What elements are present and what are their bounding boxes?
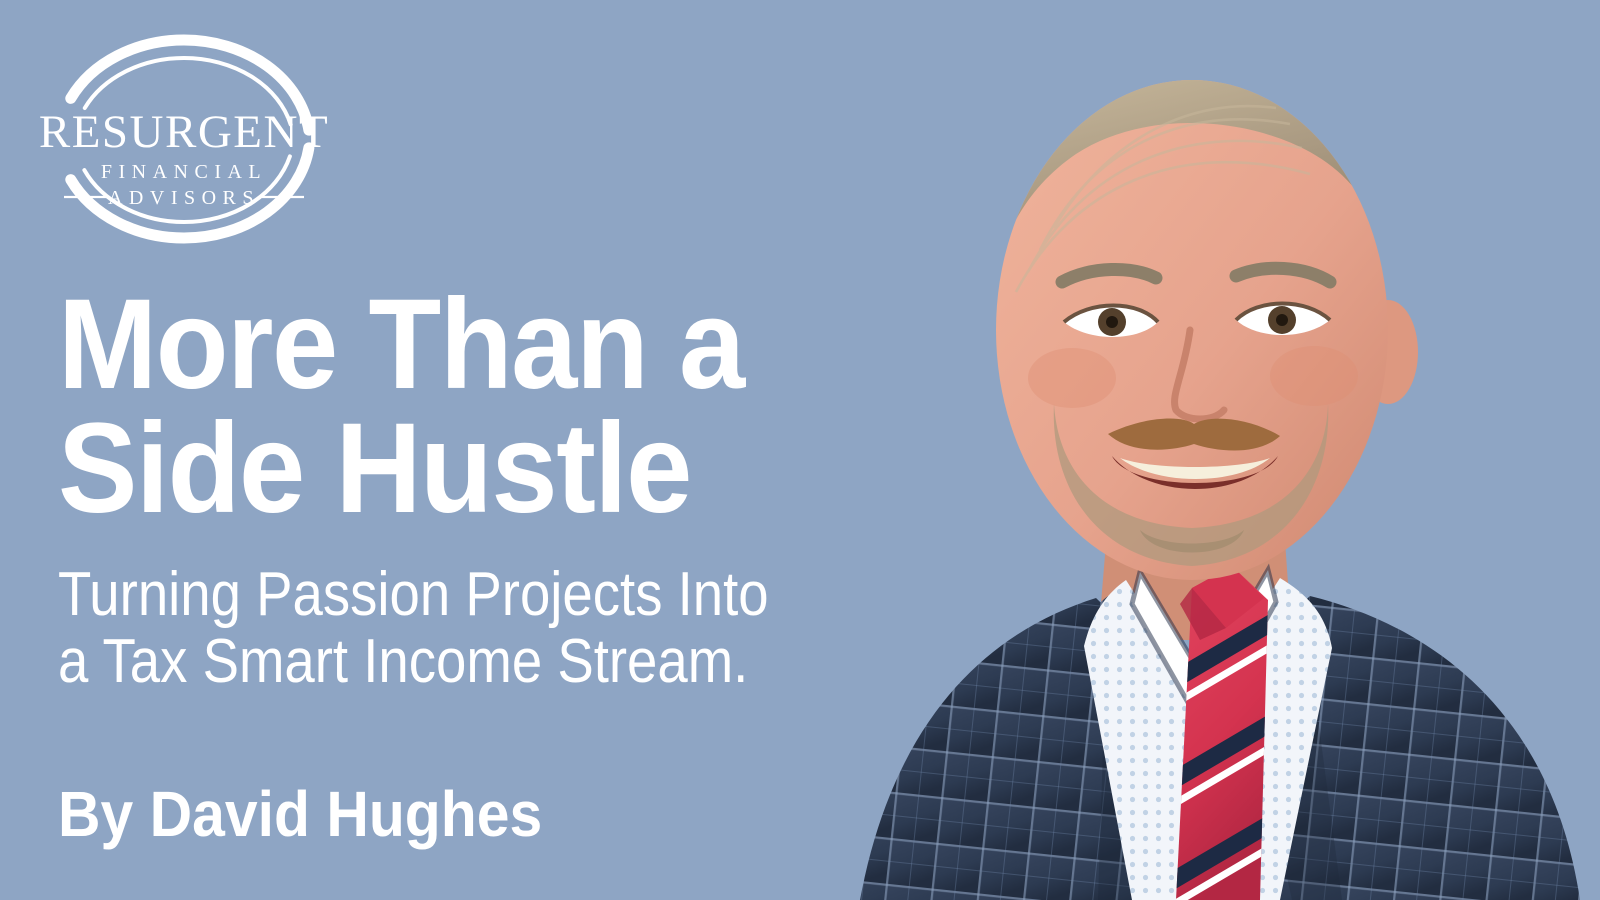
head <box>988 62 1400 580</box>
logo-line3-text: ADVISORS <box>108 187 260 209</box>
subtitle-line-1: Turning Passion Projects Into <box>58 560 769 629</box>
author-byline: By David Hughes <box>58 696 914 846</box>
portrait-photo <box>840 0 1600 900</box>
headline-line-1: More Than a <box>58 273 744 416</box>
page-title: More Than a Side Hustle <box>58 283 923 531</box>
resurgent-financial-advisors-logo: RESURGENT FINANCIAL ADVISORS <box>44 26 324 251</box>
logo-line2-text: FINANCIAL <box>101 161 267 183</box>
hero-subtitle: Turning Passion Projects Into a Tax Smar… <box>58 531 876 696</box>
logo-brand-text: RESURGENT <box>39 106 329 158</box>
promo-banner: RESURGENT FINANCIAL ADVISORS More Than a… <box>0 0 1600 900</box>
subtitle-line-2: a Tax Smart Income Stream. <box>58 629 876 696</box>
headline-line-2: Side Hustle <box>58 407 923 531</box>
